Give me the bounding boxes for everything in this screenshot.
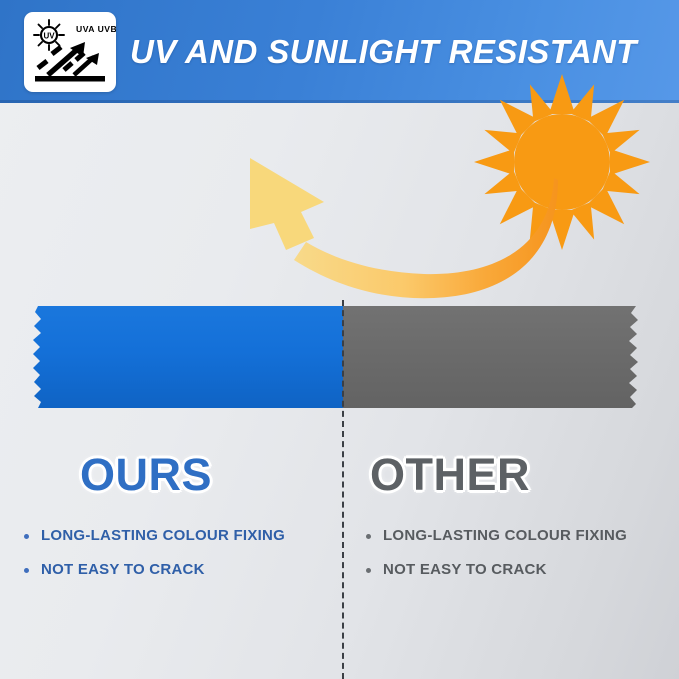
- tape-comparison-strip: [0, 303, 679, 413]
- badge-uv-label: UV: [43, 32, 55, 41]
- bullet-icon: [366, 534, 371, 539]
- badge-spectrum-label: UVA UVB: [76, 24, 116, 34]
- bullet-icon: [24, 568, 29, 573]
- ours-title: OURS: [18, 452, 348, 497]
- curved-reflect-arrow-icon: [228, 150, 558, 310]
- ours-panel: OURS LONG-LASTING COLOUR FIXING NOT EASY…: [18, 452, 348, 595]
- list-item: NOT EASY TO CRACK: [18, 561, 348, 578]
- ours-tape-swatch: [33, 306, 343, 408]
- other-panel: OTHER LONG-LASTING COLOUR FIXING NOT EAS…: [360, 452, 679, 595]
- uv-resistant-infographic: UV UVA UVB: [0, 0, 679, 679]
- feature-label: LONG-LASTING COLOUR FIXING: [383, 527, 627, 544]
- feature-label: LONG-LASTING COLOUR FIXING: [41, 527, 285, 544]
- bullet-icon: [24, 534, 29, 539]
- other-tape-swatch: [343, 306, 638, 408]
- other-title: OTHER: [360, 452, 679, 497]
- other-feature-list: LONG-LASTING COLOUR FIXING NOT EASY TO C…: [360, 527, 679, 578]
- page-title: UV AND SUNLIGHT RESISTANT: [130, 33, 637, 71]
- bullet-icon: [366, 568, 371, 573]
- uv-resistance-icon: UV UVA UVB: [24, 12, 116, 92]
- list-item: NOT EASY TO CRACK: [360, 561, 679, 578]
- feature-label: NOT EASY TO CRACK: [41, 561, 205, 578]
- list-item: LONG-LASTING COLOUR FIXING: [18, 527, 348, 544]
- ours-feature-list: LONG-LASTING COLOUR FIXING NOT EASY TO C…: [18, 527, 348, 578]
- feature-label: NOT EASY TO CRACK: [383, 561, 547, 578]
- list-item: LONG-LASTING COLOUR FIXING: [360, 527, 679, 544]
